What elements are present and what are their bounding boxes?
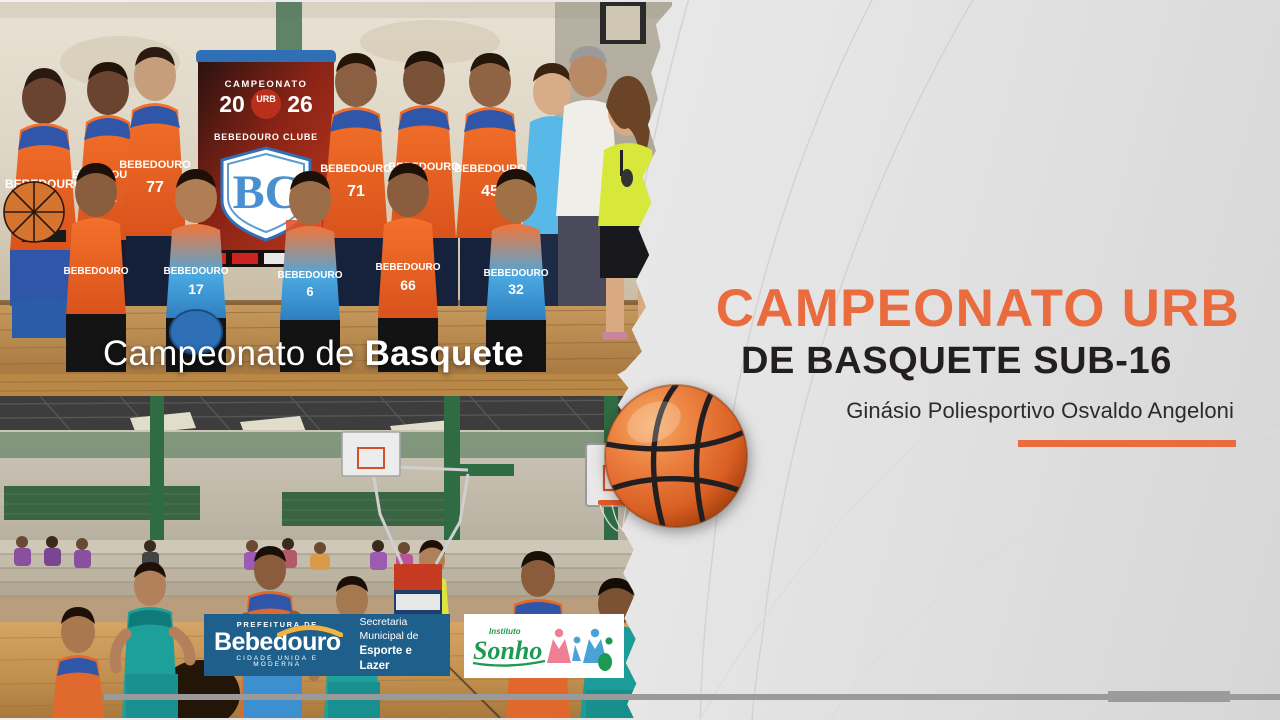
horizontal-scrollbar-track[interactable] [104, 694, 1280, 700]
prefeitura-tagline: CIDADE UNIDA E MODERNA [214, 656, 341, 669]
prefeitura-bebedouro-logo: PREFEITURA DE Bebedouro CIDADE UNIDA E M… [204, 614, 450, 676]
accent-underline [1018, 440, 1236, 447]
photo-collage: CAMPEONATO 20 26 URB BEBEDOURO CLUBE BC [0, 0, 700, 720]
svg-text:77: 77 [146, 179, 164, 196]
prefeitura-swoosh-icon [277, 624, 343, 637]
sonho-vivo-eyebrow: Instituto [489, 627, 521, 636]
event-title: CAMPEONATO URB [660, 282, 1240, 336]
photo-caption: Campeonato de Basquete [103, 334, 524, 374]
department-line-1: Secretaria [359, 616, 440, 630]
svg-text:17: 17 [188, 281, 204, 297]
sonho-vivo-mark: Instituto Sonho [471, 619, 617, 673]
svg-text:6: 6 [306, 284, 313, 299]
svg-text:BEBEDOURO: BEBEDOURO [163, 266, 228, 277]
department-line-3: Esporte e Lazer [359, 644, 440, 675]
svg-text:BEBEDOURO: BEBEDOURO [277, 270, 342, 281]
sonho-vivo-word-1: Sonho [473, 636, 542, 665]
basketball-icon [602, 382, 750, 530]
svg-text:URB: URB [256, 94, 276, 104]
sonho-vivo-figures [547, 629, 613, 671]
svg-text:32: 32 [508, 281, 524, 297]
svg-text:BEBEDOURO: BEBEDOURO [375, 262, 440, 273]
event-subtitle: DE BASQUETE SUB-16 [660, 342, 1240, 382]
svg-text:66: 66 [400, 277, 416, 293]
team-photo: CAMPEONATO 20 26 URB BEBEDOURO CLUBE BC [0, 2, 672, 374]
prefeitura-department: Secretaria Municipal de Esporte e Lazer [359, 616, 440, 674]
svg-text:BEBEDOURO: BEBEDOURO [320, 163, 392, 175]
svg-text:71: 71 [347, 183, 365, 200]
svg-text:BC: BC [233, 166, 300, 219]
svg-text:20: 20 [219, 91, 245, 117]
photo-caption-bold: Basquete [365, 334, 524, 373]
instituto-sonho-vivo-logo: Instituto Sonho [464, 614, 624, 678]
presentation-slide: CAMPEONATO 20 26 URB BEBEDOURO CLUBE BC [0, 0, 1280, 720]
svg-text:BEBEDOURO: BEBEDOURO [119, 159, 191, 171]
svg-text:BEBEDOURO: BEBEDOURO [63, 266, 128, 277]
svg-text:BEBEDOURO CLUBE: BEBEDOURO CLUBE [214, 132, 318, 142]
photo-caption-regular: Campeonato de [103, 334, 365, 373]
horizontal-scrollbar-thumb[interactable] [1108, 691, 1230, 702]
prefeitura-wordmark: PREFEITURA DE Bebedouro CIDADE UNIDA E M… [214, 621, 341, 669]
svg-text:26: 26 [287, 91, 313, 117]
sponsor-logos: PREFEITURA DE Bebedouro CIDADE UNIDA E M… [204, 614, 624, 678]
svg-text:CAMPEONATO: CAMPEONATO [225, 79, 308, 90]
department-line-2: Municipal de [359, 630, 440, 644]
svg-text:BEBEDOURO: BEBEDOURO [483, 268, 548, 279]
